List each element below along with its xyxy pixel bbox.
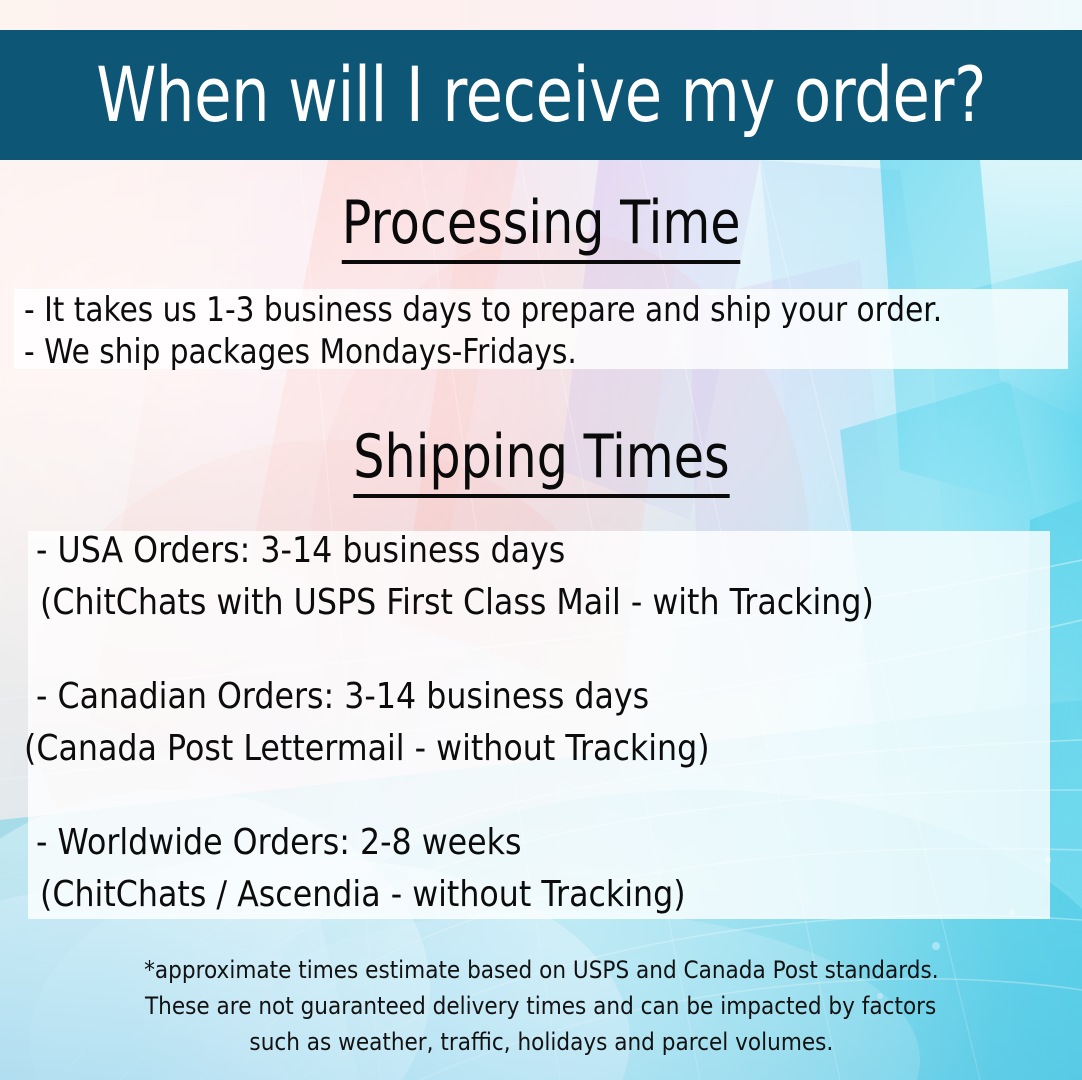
section-heading-processing-time-label: Processing Time bbox=[342, 193, 741, 264]
shipping-entry-usa-line-1-text: - USA Orders: 3-14 business days bbox=[36, 533, 565, 569]
section-heading-shipping-times: Shipping Times bbox=[0, 427, 1082, 498]
processing-time-line-2-text: - We ship packages Mondays-Fridays. bbox=[24, 335, 577, 369]
footer-disclaimer-line-1-text: *approximate times estimate based on USP… bbox=[144, 958, 938, 982]
shipping-entry-canada-line-1: - Canadian Orders: 3-14 business days bbox=[36, 679, 803, 715]
footer-disclaimer-line-1: *approximate times estimate based on USP… bbox=[0, 958, 1082, 982]
shipping-entry-usa-line-2-text: (ChitChats with USPS First Class Mail - … bbox=[40, 585, 874, 621]
page-title: When will I receive my order? bbox=[96, 57, 986, 133]
section-heading-processing-time: Processing Time bbox=[0, 193, 1082, 264]
flyer-canvas: When will I receive my order? Processing… bbox=[0, 0, 1082, 1080]
header-banner: When will I receive my order? bbox=[0, 30, 1082, 160]
footer-disclaimer-line-2: These are not guaranteed delivery times … bbox=[0, 994, 1082, 1018]
shipping-entry-usa-line-1: - USA Orders: 3-14 business days bbox=[36, 533, 988, 569]
shipping-entry-worldwide-line-1: - Worldwide Orders: 2-8 weeks bbox=[36, 825, 774, 861]
footer-disclaimer-line-3: such as weather, traffic, holidays and p… bbox=[0, 1030, 1082, 1054]
section-heading-shipping-times-label: Shipping Times bbox=[353, 427, 729, 498]
shipping-entry-usa: - USA Orders: 3-14 business days (ChitCh… bbox=[36, 533, 988, 621]
top-strip bbox=[0, 0, 1082, 30]
shipping-entry-canada-line-1-text: - Canadian Orders: 3-14 business days bbox=[36, 679, 649, 715]
shipping-entry-canada: - Canadian Orders: 3-14 business days (C… bbox=[36, 679, 803, 767]
footer-disclaimer-line-2-text: These are not guaranteed delivery times … bbox=[145, 994, 936, 1018]
processing-time-line-1-text: - It takes us 1-3 business days to prepa… bbox=[24, 293, 942, 327]
shipping-entry-canada-line-2: (Canada Post Lettermail - without Tracki… bbox=[24, 731, 803, 767]
footer-disclaimer-line-3-text: such as weather, traffic, holidays and p… bbox=[249, 1030, 833, 1054]
shipping-entry-worldwide-line-2-text: (ChitChats / Ascendia - without Tracking… bbox=[40, 877, 686, 913]
shipping-entry-worldwide: - Worldwide Orders: 2-8 weeks (ChitChats… bbox=[36, 825, 774, 913]
footer-disclaimer: *approximate times estimate based on USP… bbox=[0, 958, 1082, 1066]
processing-time-line-2: - We ship packages Mondays-Fridays. bbox=[24, 335, 659, 369]
shipping-entry-worldwide-line-1-text: - Worldwide Orders: 2-8 weeks bbox=[36, 825, 522, 861]
shipping-entry-worldwide-line-2: (ChitChats / Ascendia - without Tracking… bbox=[40, 877, 774, 913]
processing-time-line-1: - It takes us 1-3 business days to prepa… bbox=[24, 293, 1079, 327]
shipping-entry-usa-line-2: (ChitChats with USPS First Class Mail - … bbox=[40, 585, 988, 621]
shipping-entry-canada-line-2-text: (Canada Post Lettermail - without Tracki… bbox=[24, 731, 710, 767]
